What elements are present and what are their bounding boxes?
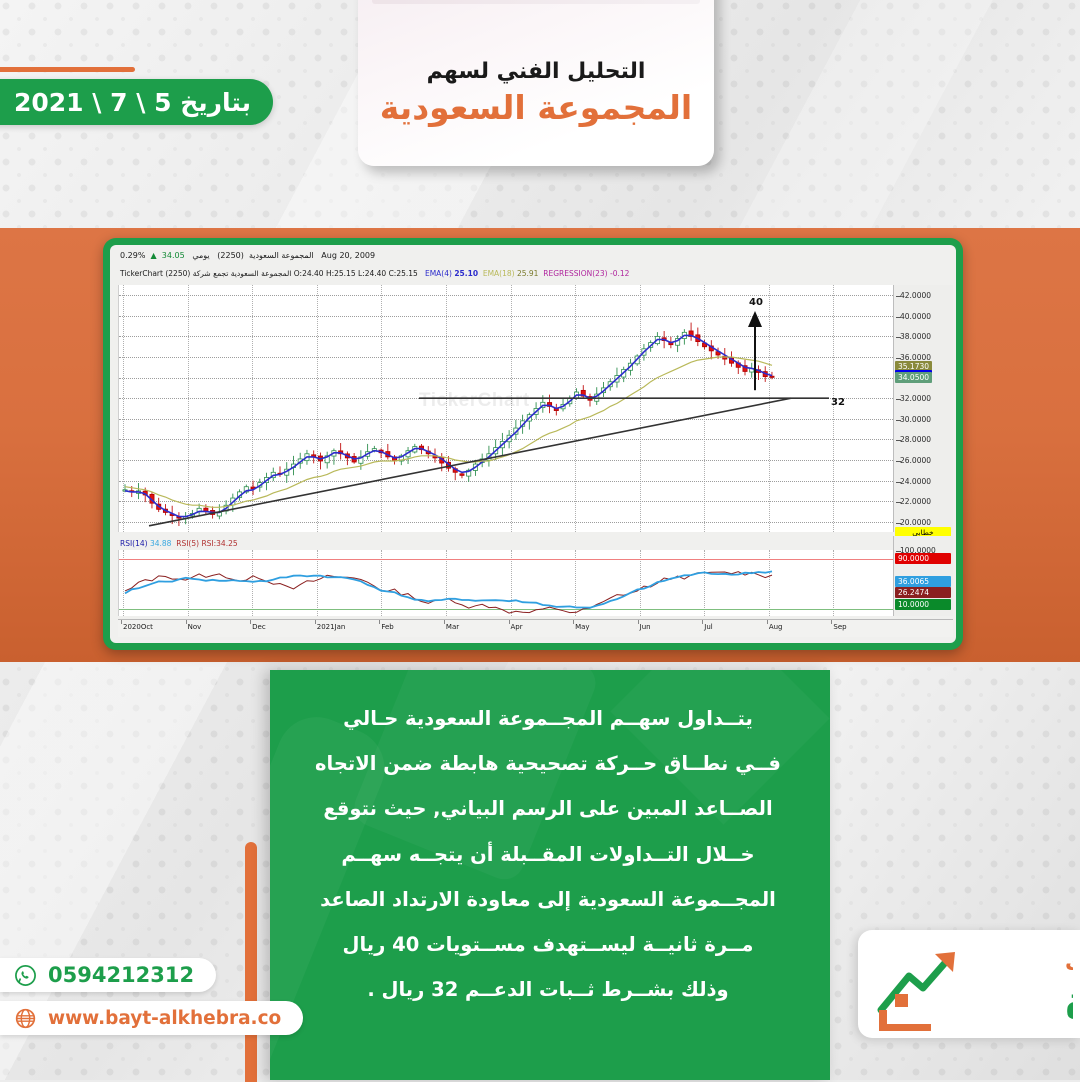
globe-icon — [14, 1007, 37, 1030]
chart-ema4-value: 25.10 — [454, 269, 478, 278]
chart-regression-value: -0.12 — [610, 269, 629, 278]
annotation-label-32: 32 — [831, 397, 845, 408]
annotation-label-40: 40 — [749, 297, 763, 308]
date-axis: 2020OctNovDec2021JanFebMarAprMayJunJulAu… — [118, 619, 953, 637]
chart-frame: المجموعة السعودية (2250) يومي 34.05 ▲ 0.… — [103, 238, 963, 650]
analysis-panel: يتــداول سهــم المجــموعة السعودية حـالي… — [270, 670, 830, 1080]
contact-block: 0594212312 www.bayt-alkhebra.co — [0, 958, 303, 1035]
chart-change-pct: 0.29% — [120, 251, 145, 260]
date-tick-label: Jul — [704, 623, 712, 631]
rsi-marker-chip: 90.0000 — [895, 553, 951, 564]
price-tick-label: 38.0000 — [900, 332, 931, 341]
title-card: التحليل الفني لسهم المجموعة السعودية — [358, 0, 714, 166]
price-tick-label: 28.0000 — [900, 435, 931, 444]
price-tick-label: 30.0000 — [900, 415, 931, 424]
rsi-marker-chip: 26.2474 — [895, 587, 951, 598]
chart-quote-line: المجموعة السعودية (2250) يومي 34.05 ▲ 0.… — [120, 251, 375, 260]
analysis-line: الصــاعد المبين على الرسم البياني, حيث ن… — [290, 786, 806, 831]
chart-band: المجموعة السعودية (2250) يومي 34.05 ▲ 0.… — [0, 228, 1080, 662]
date-badge-label: بتاريخ 5 \ 7 \ 2021 — [14, 88, 251, 117]
target-arrow-head — [748, 311, 762, 327]
date-tick-label: Mar — [446, 623, 459, 631]
chart-ohlc-name: المجموعة السعودية تجمع شركة — [193, 269, 292, 278]
rsi-axis-scale: 100.000090.000036.006526.247410.0000 — [893, 536, 953, 616]
chart-last-price: 34.05 — [162, 251, 185, 260]
website-url: www.bayt-alkhebra.co — [48, 1008, 281, 1029]
date-tick-label: Apr — [511, 623, 523, 631]
chart-open: O:24.40 — [294, 269, 324, 278]
phone-number: 0594212312 — [48, 963, 194, 987]
rsi-series-line — [125, 571, 772, 607]
date-tick-label: Sep — [833, 623, 846, 631]
chart-low: L:24.40 — [358, 269, 386, 278]
analysis-line: المجــموعة السعودية إلى معاودة الارتداد … — [290, 877, 806, 922]
logo-artwork: بيت الخبرة — [865, 936, 1073, 1032]
series-line — [125, 335, 772, 516]
rsi-marker-chip: 10.0000 — [895, 599, 951, 610]
analysis-paragraph: يتــداول سهــم المجــموعة السعودية حـالي… — [290, 696, 806, 1013]
date-tick-label: 2021Jan — [317, 623, 346, 631]
rsi14-label: RSI(14) — [120, 539, 148, 548]
series-line — [125, 357, 772, 507]
growth-arrow-icon — [879, 952, 955, 1031]
chart-ohlc-line: TickerChart المجموعة السعودية تجمع شركة … — [120, 269, 629, 278]
orange-accent-rule — [0, 67, 135, 72]
price-tick-label: 42.0000 — [900, 291, 931, 300]
logo-word-top: بيت — [1065, 951, 1073, 975]
price-marker-chip: 34.0500 — [895, 372, 932, 383]
analysis-line: فــي نطــاق حــركة تصحيحية هابطة ضمن الا… — [290, 741, 806, 786]
price-tick-label: 26.0000 — [900, 456, 931, 465]
analysis-line: وذلك بشــرط ثــبات الدعــم 32 ريال . — [290, 967, 806, 1012]
rsi5-value: RSI:34.25 — [201, 539, 237, 548]
date-tick-label: Dec — [252, 623, 266, 631]
analysis-line: خــلال التــداولات المقــبلة أن يتجــه س… — [290, 832, 806, 877]
date-tick-label: 2020Oct — [123, 623, 153, 631]
chart-symbol-name: المجموعة السعودية — [249, 251, 314, 260]
logo-word-main: الخبرة — [1065, 975, 1073, 1029]
chart-ema18-label: EMA(18) — [483, 269, 515, 278]
date-tick-label: May — [575, 623, 589, 631]
chart-high: H:25.15 — [326, 269, 356, 278]
price-tick-label: 22.0000 — [900, 497, 931, 506]
rsi14-value: 34.88 — [150, 539, 171, 548]
chart-regression-label: REGRESSION(23) — [543, 269, 607, 278]
chart-widget[interactable]: المجموعة السعودية (2250) يومي 34.05 ▲ 0.… — [110, 245, 956, 643]
chart-timeframe: يومي — [192, 251, 209, 260]
price-tick-label: 20.0000 — [900, 518, 931, 527]
website-pill[interactable]: www.bayt-alkhebra.co — [0, 1001, 303, 1035]
date-tick-label: Feb — [381, 623, 393, 631]
chart-ema4-label: EMA(4) — [425, 269, 452, 278]
title-card-top-bar — [372, 0, 700, 4]
rsi5-label: RSI(5) — [176, 539, 199, 548]
price-plot-area[interactable]: TickerChart 40 32 — [118, 285, 893, 532]
chart-ema18-value: 25.91 — [517, 269, 538, 278]
chart-date-label: Aug 20, 2009 — [321, 251, 375, 260]
chart-close: C:25.15 — [389, 269, 418, 278]
analysis-line: مــرة ثانيــة ليســتهدف مســتويات 40 ريا… — [290, 922, 806, 967]
header-section: بتاريخ 5 \ 7 \ 2021 التحليل الفني لسهم ا… — [0, 0, 1080, 228]
analysis-line: يتــداول سهــم المجــموعة السعودية حـالي — [290, 696, 806, 741]
date-tick-label: Aug — [769, 623, 783, 631]
price-tick-label: 24.0000 — [900, 477, 931, 486]
chart-symbol-code: (2250) — [217, 251, 244, 260]
rsi-header-line: RSI(14) 34.88 RSI(5) RSI:34.25 — [120, 539, 238, 548]
phone-pill[interactable]: 0594212312 — [0, 958, 216, 992]
uptrend-line — [149, 398, 791, 526]
page-title: المجموعة السعودية — [358, 88, 714, 127]
date-badge: بتاريخ 5 \ 7 \ 2021 — [0, 79, 273, 125]
chart-change-arrow-icon: ▲ — [151, 251, 157, 260]
rsi-series-svg — [119, 550, 894, 616]
rsi-marker-chip: 36.0065 — [895, 576, 951, 587]
whatsapp-icon — [14, 964, 37, 987]
price-tick-label: 32.0000 — [900, 394, 931, 403]
title-subtitle: التحليل الفني لسهم — [358, 59, 714, 84]
price-series-svg — [119, 285, 894, 532]
chart-ohlc-code: (2250) — [165, 269, 190, 278]
price-tick-label: 40.0000 — [900, 312, 931, 321]
date-tick-label: Jun — [640, 623, 651, 631]
brand-logo-card[interactable]: بيت الخبرة — [858, 930, 1080, 1038]
price-axis-scale: 42.000040.000038.000036.000034.000032.00… — [893, 285, 953, 532]
chart-source-label: TickerChart — [120, 269, 163, 278]
rsi-plot-area[interactable] — [118, 550, 893, 616]
date-tick-label: Nov — [188, 623, 202, 631]
